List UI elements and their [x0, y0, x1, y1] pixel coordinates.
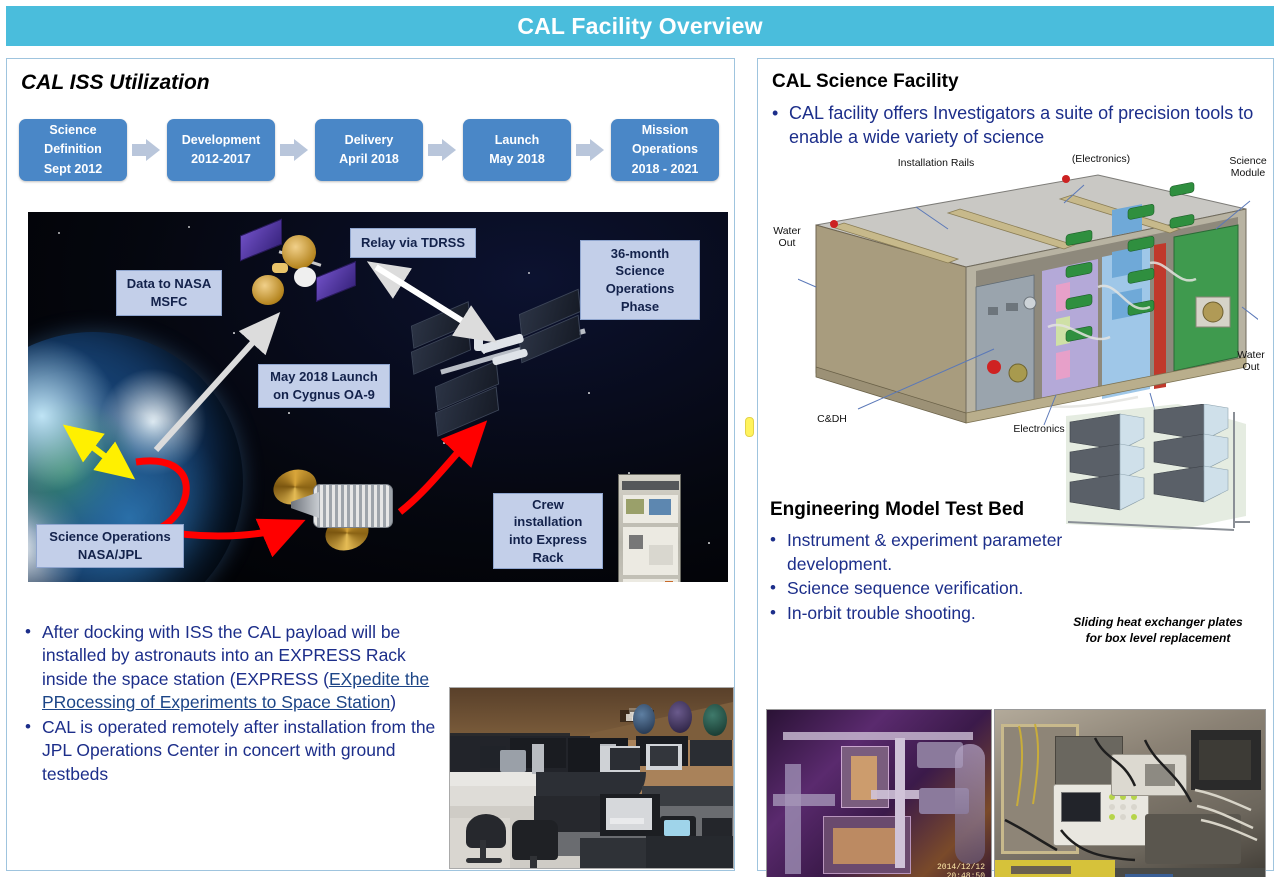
bullet-dot-icon: • — [770, 529, 787, 576]
bullet-text: After docking with ISS the CAL payload w… — [42, 621, 443, 715]
bullet-dot-icon: • — [772, 101, 789, 150]
flow-step-development[interactable]: Development 2012-2017 — [167, 119, 275, 181]
cal-em-physics-package-photo: 2014/12/12 20:48:50 — [766, 709, 992, 877]
mission-ops-room-photo — [449, 687, 734, 869]
photo-timestamp: 2014/12/12 20:48:50 — [937, 864, 985, 877]
flow-step-delivery[interactable]: Delivery April 2018 — [315, 119, 423, 181]
callout-science-operations-nasa-jpl: Science Operations NASA/JPL — [36, 524, 184, 568]
callout-relay-via-tdrss: Relay via TDRSS — [350, 228, 476, 258]
right-panel-heading: CAL Science Facility — [772, 71, 959, 93]
bullet-text: CAL is operated remotely after installat… — [42, 716, 443, 786]
flow-step-line2: April 2018 — [339, 150, 399, 169]
panel-cal-iss-utilization: CAL ISS Utilization Science Definition S… — [6, 58, 735, 871]
bullet-dot-icon: • — [25, 716, 42, 786]
list-item: • CAL is operated remotely after install… — [25, 716, 443, 786]
callout-text: 36-month Science Operations Phase — [587, 245, 693, 315]
flow-step-line1: Development — [182, 131, 261, 150]
flow-step-line2: 2012-2017 — [191, 150, 251, 169]
cad-label-science-module: Science Module — [1218, 155, 1278, 179]
bullet-text: Science sequence verification. — [787, 577, 1100, 601]
heat-exchanger-caption: Sliding heat exchanger plates for box le… — [1048, 615, 1268, 646]
cad-label-cdh: C&DH — [808, 413, 856, 425]
bullet-text: Instrument & experiment parameter develo… — [787, 529, 1100, 576]
testbed-bullet-list: • Instrument & experiment parameter deve… — [770, 529, 1100, 627]
flow-step-line1: Science — [49, 121, 96, 140]
flow-step-line2: Definition — [44, 140, 102, 159]
flow-step-line1: Mission — [642, 121, 689, 140]
callout-text: Science Operations NASA/JPL — [43, 528, 177, 563]
callout-text: Crew installation into Express Rack — [500, 496, 596, 566]
list-item: • CAL facility offers Investigators a su… — [772, 101, 1264, 150]
left-panel-heading: CAL ISS Utilization — [21, 71, 210, 95]
callout-text: Relay via TDRSS — [361, 234, 465, 252]
bullet-dot-icon: • — [770, 602, 787, 626]
slide-title-bar: CAL Facility Overview — [6, 6, 1274, 46]
cad-label-water-out-left: Water Out — [764, 225, 810, 249]
cad-label-water-out-right: Water Out — [1228, 349, 1274, 373]
cad-label-installation-rails: Installation Rails — [876, 157, 996, 169]
science-facility-bullet-list: • CAL facility offers Investigators a su… — [772, 101, 1264, 151]
flow-step-science-definition[interactable]: Science Definition Sept 2012 — [19, 119, 127, 181]
flow-step-line1: Delivery — [345, 131, 394, 150]
iss-operations-diagram: Data to NASA MSFC Relay via TDRSS 36-mon… — [28, 212, 728, 582]
callout-data-to-nasa-msfc: Data to NASA MSFC — [116, 270, 222, 316]
bullet-dot-icon: • — [25, 621, 42, 715]
list-item: • After docking with ISS the CAL payload… — [25, 621, 443, 715]
callout-science-operations-phase: 36-month Science Operations Phase — [580, 240, 700, 320]
flow-arrow-icon — [576, 139, 606, 161]
cal-facility-cad-rendering: Installation Rails (Electronics) Science… — [798, 167, 1258, 442]
bullet-text: CAL facility offers Investigators a suit… — [789, 101, 1264, 150]
bullet-segment-tail: ) — [390, 692, 396, 712]
list-item: • Instrument & experiment parameter deve… — [770, 529, 1100, 576]
sliding-heat-exchanger-sketch — [1058, 404, 1258, 539]
callout-may-2018-launch: May 2018 Launch on Cygnus OA-9 — [258, 364, 390, 408]
list-item: • Science sequence verification. — [770, 577, 1100, 601]
flow-step-line2: Operations — [632, 140, 698, 159]
page-title: CAL Facility Overview — [517, 13, 762, 40]
callout-crew-installation: Crew installation into Express Rack — [493, 493, 603, 569]
flow-step-line3: 2018 - 2021 — [632, 160, 699, 179]
cal-em-testbed-photo — [994, 709, 1266, 877]
flow-step-mission-operations[interactable]: Mission Operations 2018 - 2021 — [611, 119, 719, 181]
mission-phase-flow: Science Definition Sept 2012 Development… — [19, 119, 719, 181]
flow-arrow-icon — [428, 139, 458, 161]
flow-step-line2: May 2018 — [489, 150, 545, 169]
flow-arrow-icon — [280, 139, 310, 161]
left-bullet-list: • After docking with ISS the CAL payload… — [25, 621, 443, 787]
slide-root: CAL Facility Overview CAL ISS Utilizatio… — [0, 0, 1280, 877]
callout-text: May 2018 Launch on Cygnus OA-9 — [265, 368, 383, 403]
flow-arrow-icon — [132, 139, 162, 161]
flow-step-launch[interactable]: Launch May 2018 — [463, 119, 571, 181]
cad-label-electronics-top: (Electronics) — [1056, 153, 1146, 165]
yellow-marker-icon — [745, 417, 754, 437]
panel-cal-science-facility: CAL Science Facility • CAL facility offe… — [757, 58, 1274, 871]
flow-step-line1: Launch — [495, 131, 539, 150]
engineering-model-testbed-heading: Engineering Model Test Bed — [770, 499, 1024, 521]
bullet-dot-icon: • — [770, 577, 787, 601]
flow-step-line3: Sept 2012 — [44, 160, 102, 179]
callout-text: Data to NASA MSFC — [123, 275, 215, 310]
